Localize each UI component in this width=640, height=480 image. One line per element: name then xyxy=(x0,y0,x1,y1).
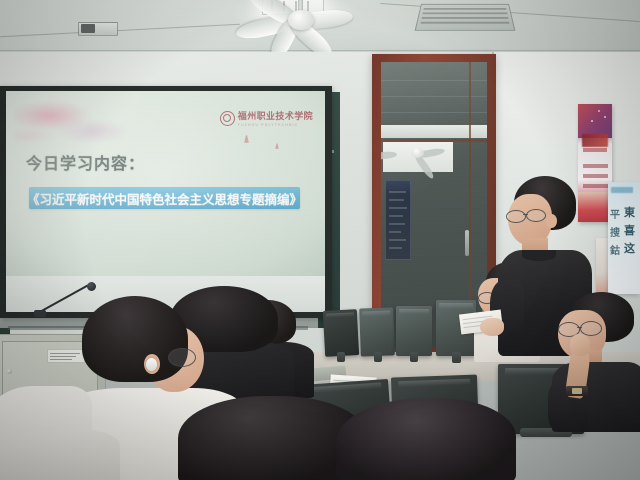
slide-heading: 今日学习内容： xyxy=(26,150,145,174)
microphone-base xyxy=(34,310,46,317)
hand xyxy=(480,318,504,336)
ceiling-fan-icon xyxy=(236,0,366,54)
earbud xyxy=(146,358,157,371)
computer-monitor[interactable] xyxy=(396,306,432,356)
institution-name-en: FUZHOU POLYTECHNIC xyxy=(238,123,313,127)
fan-reflection xyxy=(383,142,453,172)
eyeglasses xyxy=(168,348,196,367)
wristwatch xyxy=(566,386,588,396)
person-student-right xyxy=(552,292,640,432)
monitor-stand xyxy=(374,352,382,362)
door-reflection-band xyxy=(381,125,487,138)
monitor-stand xyxy=(452,352,461,363)
poster-red-title xyxy=(582,134,608,147)
classroom-photo: 福州职业技术学院 FUZHOU POLYTECHNIC 今日学习内容： 《习近平… xyxy=(0,0,640,480)
hair xyxy=(336,398,516,480)
torso-white xyxy=(0,430,120,480)
institution-logo: 福州职业技术学院 FUZHOU POLYTECHNIC xyxy=(220,109,313,127)
door-handle[interactable] xyxy=(465,230,469,256)
wall-speaker xyxy=(78,22,118,36)
shirt-collar xyxy=(522,250,556,261)
eyeglasses-right-lens xyxy=(526,209,546,222)
poster-red-subtitle xyxy=(583,148,607,152)
slide-seal-mark xyxy=(244,135,249,143)
hair xyxy=(82,296,188,382)
cabinet-knob xyxy=(7,369,12,374)
slide-watercolor-decoration xyxy=(14,99,139,151)
slide-title-banner: 《习近平新时代中国特色社会主义思想专题摘编》 xyxy=(29,187,300,209)
fan-hub xyxy=(288,10,314,30)
person-bottom-foreground-c xyxy=(0,430,120,480)
poster-blue-header xyxy=(611,187,633,193)
ear xyxy=(546,214,557,228)
microphone-head xyxy=(87,282,96,291)
seal-icon xyxy=(220,111,235,126)
ceiling-vent xyxy=(415,4,516,31)
hand-on-chin xyxy=(570,334,590,356)
eyeglasses-left-lens xyxy=(506,210,526,223)
projected-slide: 福州职业技术学院 FUZHOU POLYTECHNIC 今日学习内容： 《习近平… xyxy=(6,91,325,278)
person-bottom-foreground-b xyxy=(336,398,516,480)
institution-name-cn: 福州职业技术学院 xyxy=(238,109,313,122)
poster-red-header xyxy=(578,104,612,138)
slide-banner-text: 《习近平新时代中国特色社会主义思想专题摘编》 xyxy=(27,189,302,208)
monitor-stand xyxy=(337,352,345,362)
slide-seal-mark xyxy=(275,143,279,149)
door-upper-pane xyxy=(381,62,487,128)
monitor-stand xyxy=(410,352,418,362)
computer-monitor[interactable] xyxy=(359,307,395,356)
wall-poster-blue: 東 喜 这 平 搜 鈷 xyxy=(608,182,640,294)
computer-monitor[interactable] xyxy=(323,309,359,357)
door-notice-poster xyxy=(385,180,411,260)
